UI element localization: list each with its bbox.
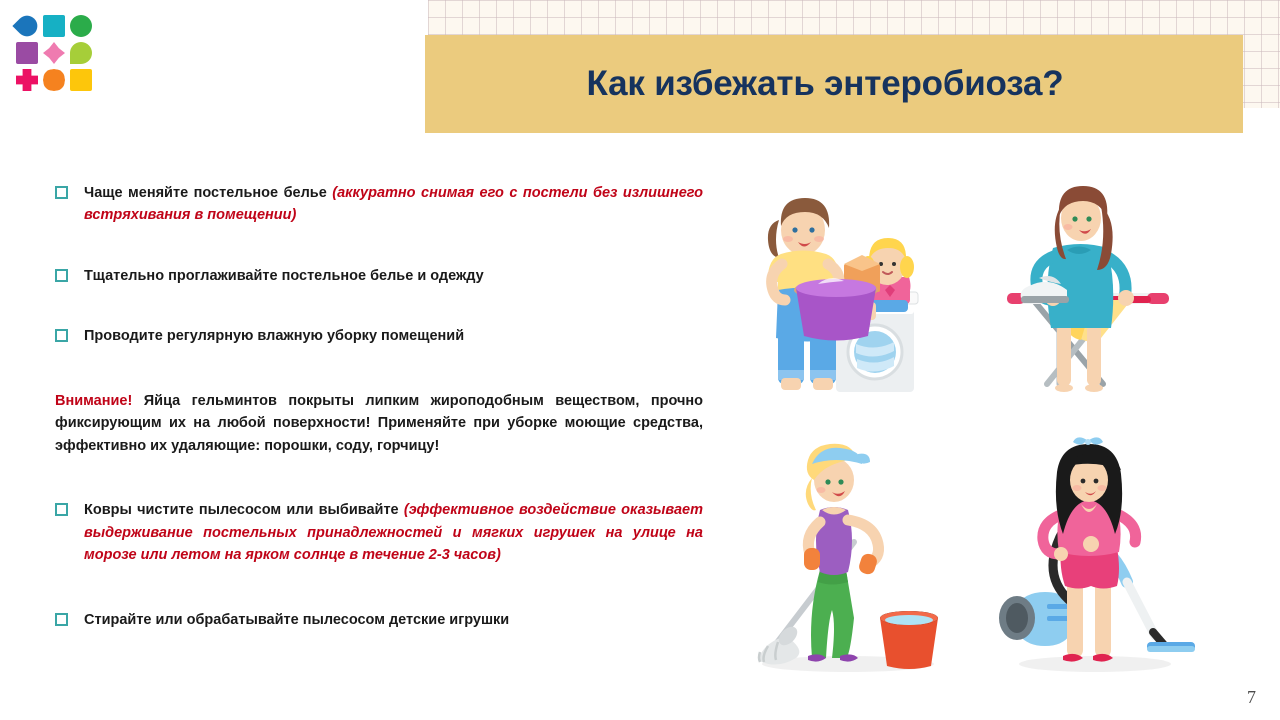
title-band: Как избежать энтеробиоза? xyxy=(425,35,1243,133)
checkbox-bullet-icon xyxy=(55,269,68,282)
page-number: 7 xyxy=(1247,687,1256,708)
list-item: Ковры чистите пылесосом или выбивайте (э… xyxy=(55,499,703,566)
list-item: Стирайте или обрабатывайте пылесосом дет… xyxy=(55,609,703,631)
slide-canvas: Как избежать энтеробиоза? Чаще меняйте п… xyxy=(0,0,1280,720)
laundry-mother-and-girl-illustration xyxy=(748,172,948,397)
list-item: Проводите регулярную влажную уборку поме… xyxy=(55,325,703,347)
woman-mopping-floor-illustration xyxy=(748,432,948,677)
checkbox-bullet-icon xyxy=(55,503,68,516)
logo-shape-petal xyxy=(43,42,65,64)
page-title: Как избежать энтеробиоза? xyxy=(425,64,1243,104)
woman-vacuuming-illustration xyxy=(995,432,1195,677)
logo-shape-cross xyxy=(16,69,38,91)
attention-paragraph: Внимание! Яйца гельминтов покрыты липким… xyxy=(55,390,703,457)
logo-cell xyxy=(42,68,66,92)
logo-shape-heart xyxy=(12,11,41,40)
logo-cell xyxy=(42,41,66,65)
list-item-text: Проводите регулярную влажную уборку поме… xyxy=(84,325,703,347)
logo-shape-square xyxy=(70,69,92,91)
logo-cell xyxy=(69,41,93,65)
logo-cell xyxy=(15,68,39,92)
checkbox-bullet-icon xyxy=(55,186,68,199)
attention-paragraph-text: Внимание! Яйца гельминтов покрыты липким… xyxy=(55,390,703,457)
logo-shape-leaf xyxy=(70,42,92,64)
logo-shape-blob xyxy=(43,69,65,91)
list-item-text: Ковры чистите пылесосом или выбивайте (э… xyxy=(84,499,703,566)
checkbox-bullet-icon xyxy=(55,613,68,626)
logo-cell xyxy=(42,14,66,38)
checkbox-bullet-icon xyxy=(55,329,68,342)
logo-cell xyxy=(69,68,93,92)
list-item-text: Стирайте или обрабатывайте пылесосом дет… xyxy=(84,609,703,631)
list-item: Тщательно проглаживайте постельное белье… xyxy=(55,265,703,287)
bullet-list: Чаще меняйте постельное белье (аккуратно… xyxy=(55,182,703,651)
list-item: Чаще меняйте постельное белье (аккуратно… xyxy=(55,182,703,227)
logo-cell xyxy=(69,14,93,38)
logo-shape-circle xyxy=(70,15,92,37)
colored-shapes-logo xyxy=(15,14,93,92)
logo-shape-square xyxy=(43,15,65,37)
logo-cell xyxy=(15,41,39,65)
logo-shape-square xyxy=(16,42,38,64)
list-item-text: Тщательно проглаживайте постельное белье… xyxy=(84,265,703,287)
woman-ironing-illustration xyxy=(995,172,1185,397)
logo-cell xyxy=(15,14,39,38)
list-item-text: Чаще меняйте постельное белье (аккуратно… xyxy=(84,182,703,227)
attention-label: Внимание! xyxy=(55,393,132,409)
